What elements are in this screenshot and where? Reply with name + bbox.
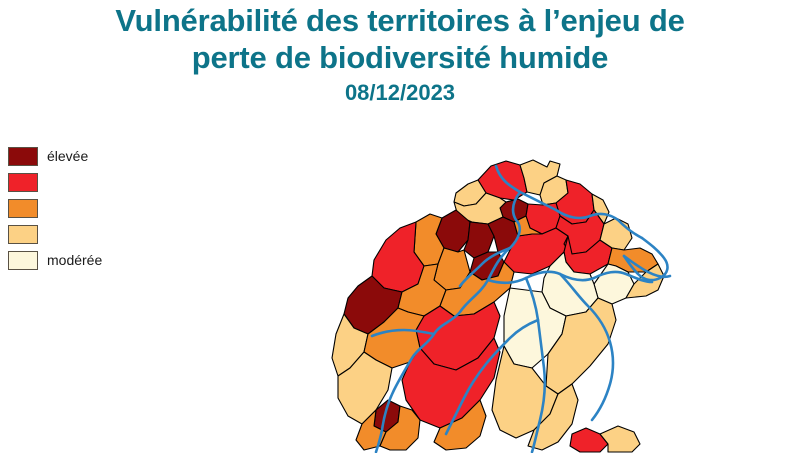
legend-item [8,169,158,195]
legend-item [8,221,158,247]
legend-swatch-2 [8,225,38,244]
legend-swatch-moderee [8,251,38,270]
legend-label-eleve: élevée [38,148,88,164]
legend-item: modérée [8,247,158,273]
legend-item [8,195,158,221]
region-r43[interactable] [600,426,640,452]
region-r42[interactable] [570,428,608,452]
page-title-line-1: Vulnérabilité des territoires à l’enjeu … [0,2,800,39]
legend-swatch-eleve [8,147,38,166]
page-subtitle-date: 08/12/2023 [0,76,800,106]
legend-swatch-4 [8,173,38,192]
legend: élevée modérée [8,143,158,273]
legend-swatch-3 [8,199,38,218]
choropleth-svg [328,148,680,453]
region-layer [332,160,664,452]
map-page: Vulnérabilité des territoires à l’enjeu … [0,0,800,453]
legend-label-moderee: modérée [38,252,102,268]
legend-item: élevée [8,143,158,169]
title-block: Vulnérabilité des territoires à l’enjeu … [0,2,800,106]
map-container [328,148,680,453]
page-title-line-2: perte de biodiversité humide [0,39,800,76]
